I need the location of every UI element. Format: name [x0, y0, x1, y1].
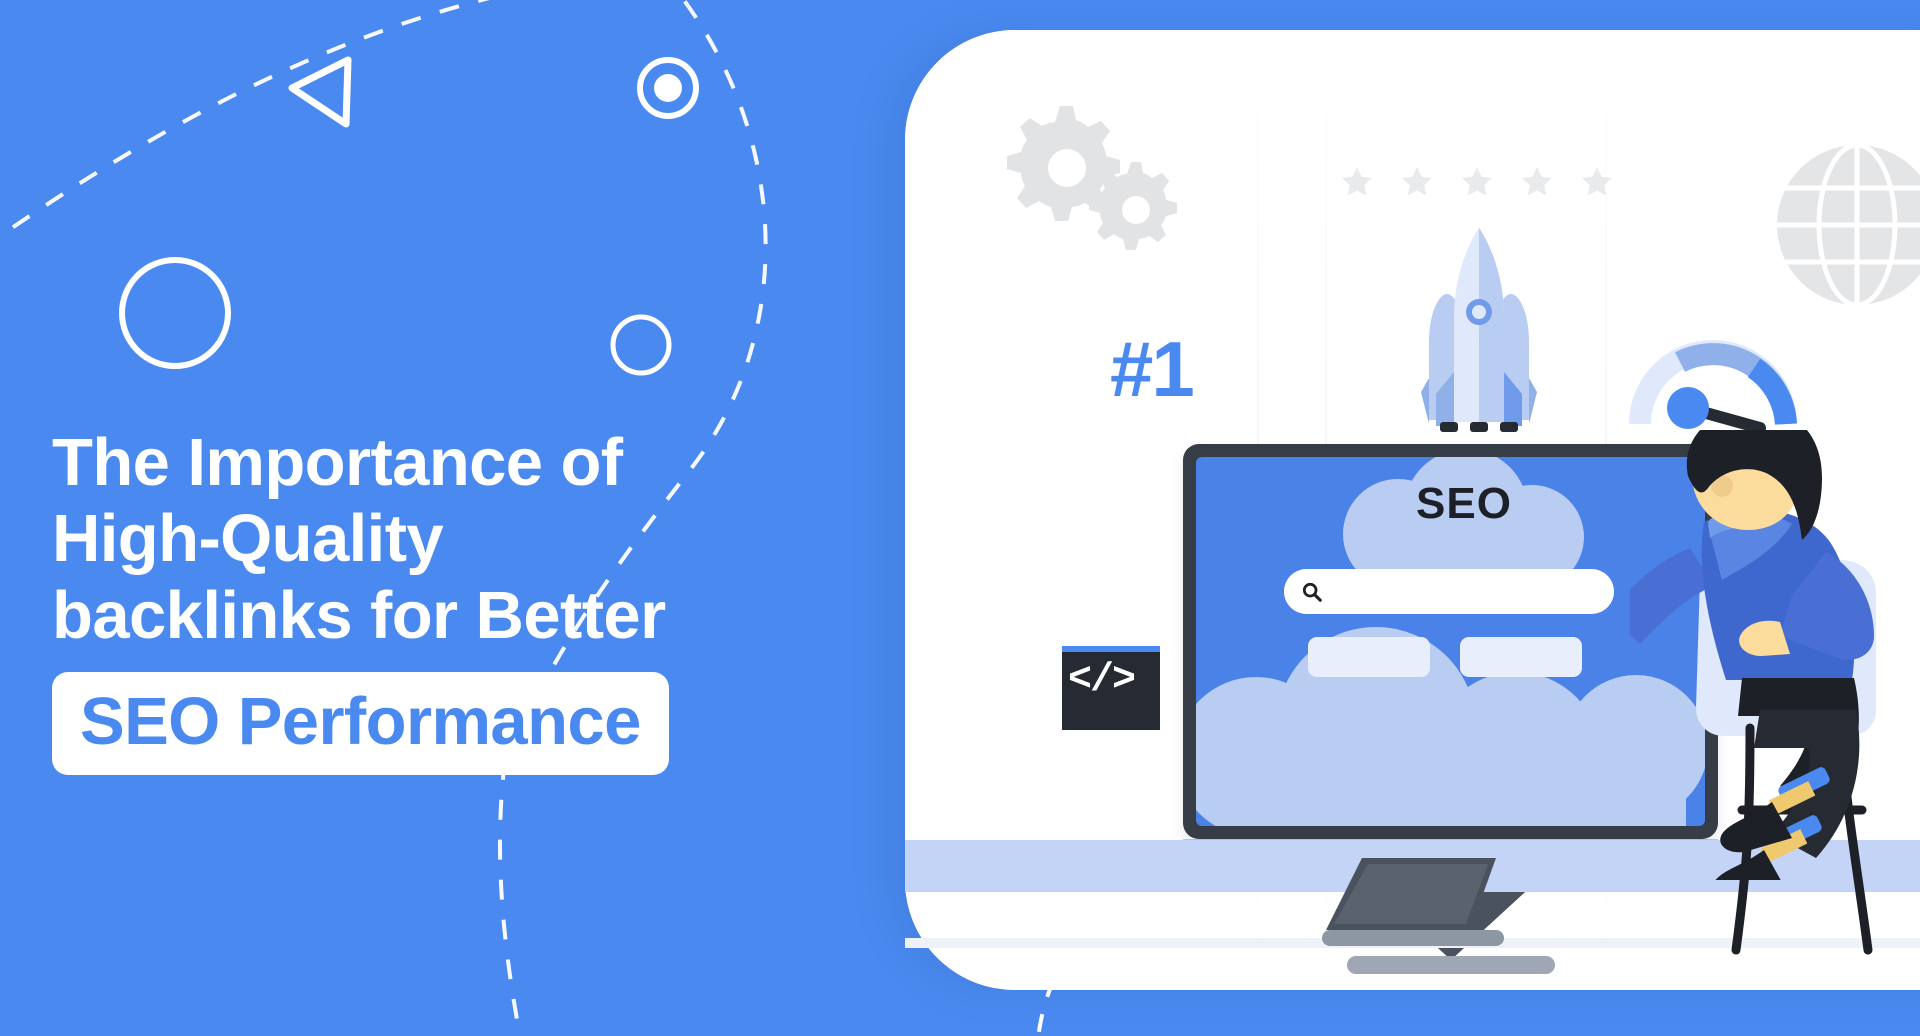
seo-banner: The Importance of High-Quality backlinks… — [0, 0, 1920, 1036]
search-icon — [1301, 581, 1323, 603]
star-icon — [1580, 165, 1614, 199]
laptop-icon — [1320, 852, 1550, 967]
star-icon — [1340, 165, 1374, 199]
star-icon — [1460, 165, 1494, 199]
code-window-icon: </> — [1062, 646, 1160, 730]
person-icon — [1630, 430, 1920, 885]
rocket-icon — [1394, 222, 1564, 477]
search-result-chips — [1308, 637, 1582, 677]
search-input[interactable] — [1284, 569, 1614, 614]
rank-number-label: #1 — [1110, 330, 1193, 408]
monitor-screen: SEO — [1196, 457, 1705, 826]
globe-icon — [1772, 140, 1920, 315]
illustration-layer: #1 </> — [0, 0, 1920, 1036]
star-icon — [1520, 165, 1554, 199]
result-chip[interactable] — [1308, 637, 1430, 677]
screen-seo-label: SEO — [1364, 479, 1564, 529]
speedometer-icon — [1628, 328, 1798, 443]
star-icon — [1400, 165, 1434, 199]
code-brackets-glyph: </> — [1068, 658, 1134, 703]
gear-icon-group — [1000, 100, 1200, 265]
star-rating-group — [1340, 165, 1614, 199]
result-chip[interactable] — [1460, 637, 1582, 677]
